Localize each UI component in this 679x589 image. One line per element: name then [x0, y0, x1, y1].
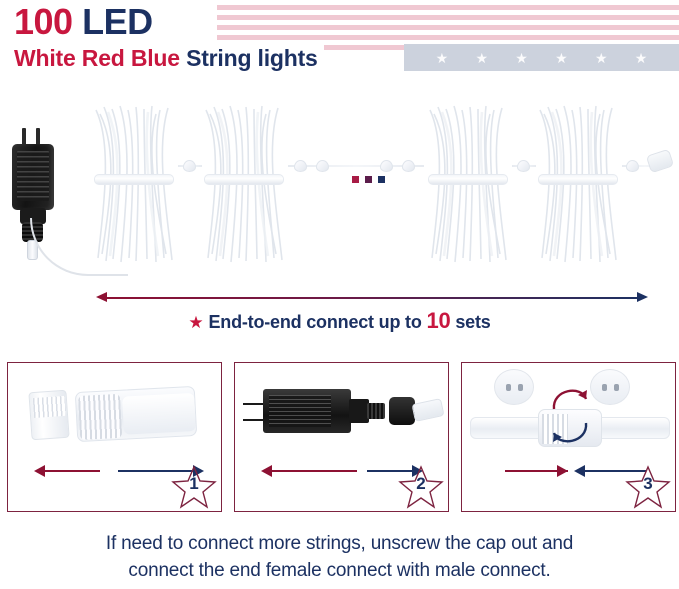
page-title-secondary: White Red Blue String lights	[14, 44, 324, 72]
light-string-bundle	[86, 104, 182, 264]
female-socket-icon	[494, 369, 534, 405]
arrow-head-right-icon	[637, 292, 648, 302]
star-icon: ★	[188, 313, 203, 332]
step-number: 3	[625, 474, 671, 494]
bulb-icon	[626, 160, 639, 172]
range-caption-text-before: End-to-end connect up to	[208, 312, 421, 332]
page-title-primary: 100 LED	[14, 2, 159, 42]
female-connector-icon	[411, 398, 444, 422]
light-string-bundle	[196, 104, 292, 264]
connector-wire-run	[288, 160, 424, 172]
light-string-bundle	[420, 104, 516, 264]
connector-threads	[78, 394, 122, 440]
light-string-bundle	[530, 104, 626, 264]
footer-instructions: If need to connect more strings, unscrew…	[0, 530, 679, 584]
footer-line-1: If need to connect more strings, unscrew…	[0, 530, 679, 557]
male-connector-icon	[75, 386, 197, 442]
arrow-shaft	[104, 297, 640, 299]
star-icon: ★	[436, 51, 449, 65]
max-sets-count: 10	[426, 308, 450, 333]
stripe	[217, 15, 679, 20]
stripe	[217, 35, 679, 40]
star-icon: ★	[555, 51, 568, 65]
step-3-illustration	[462, 363, 675, 467]
range-caption-text-after: sets	[455, 312, 490, 332]
header-banner: ★ ★ ★ ★ ★ ★ 100 LED White Red Blue Strin…	[0, 0, 679, 88]
footer-line-2: connect the end female connect with male…	[0, 557, 679, 584]
connector-wire-run	[512, 160, 536, 172]
continuation-ellipsis	[352, 176, 386, 185]
arrow-right-icon	[496, 465, 568, 477]
star-icon: ★	[475, 51, 488, 65]
rotation-arrows-icon	[540, 379, 600, 451]
bulb-icon	[380, 160, 393, 172]
flag-star-bar-decoration: ★ ★ ★ ★ ★ ★	[404, 44, 679, 71]
connector-body	[122, 393, 196, 435]
step-2-illustration	[235, 363, 448, 467]
end-connector-cap	[646, 149, 674, 174]
ellipsis-dot	[365, 176, 372, 183]
led-count: 100	[14, 1, 73, 42]
bundle-tie	[428, 174, 508, 185]
ellipsis-dot	[352, 176, 359, 183]
step-panel-3: 3	[461, 362, 676, 512]
screw-cap-icon	[389, 397, 415, 425]
end-to-end-range-arrow	[96, 292, 648, 304]
star-icon: ★	[635, 51, 648, 65]
adapter-label	[17, 151, 49, 201]
stripe	[217, 5, 679, 10]
step-number: 2	[398, 474, 444, 494]
product-type: LED	[82, 1, 153, 42]
bulb-icon	[294, 160, 307, 172]
adapter-body	[12, 144, 54, 210]
adapter-threads	[367, 403, 385, 419]
step-panel-2: 2	[234, 362, 449, 512]
stripe	[217, 25, 679, 30]
arrow-left-icon	[34, 465, 100, 477]
step-badge: 1	[171, 465, 217, 509]
product-category: String lights	[186, 45, 318, 71]
bulb-icon	[183, 160, 196, 172]
step-panel-1: 1	[7, 362, 222, 512]
bulb-icon	[517, 160, 530, 172]
bundle-tie	[94, 174, 174, 185]
step-badge: 2	[398, 465, 444, 509]
connector-wire-run	[178, 160, 202, 172]
step-1-illustration	[8, 363, 221, 467]
range-caption: ★End-to-end connect up to 10 sets	[0, 308, 679, 334]
bulb-icon	[316, 160, 329, 172]
adapter-label	[269, 395, 331, 427]
flag-stripes-decoration	[217, 2, 679, 50]
ellipsis-dot	[378, 176, 385, 183]
bundle-tie	[538, 174, 618, 185]
star-icon: ★	[595, 51, 608, 65]
step-badge: 3	[625, 465, 671, 509]
bulb-icon	[402, 160, 415, 172]
arrow-left-icon	[261, 465, 357, 477]
step-number: 1	[171, 474, 217, 494]
bundle-tie	[204, 174, 284, 185]
adapter-body	[263, 389, 351, 433]
adapter-neck	[349, 399, 369, 423]
screw-cap-icon	[28, 390, 69, 441]
color-options: White Red Blue	[14, 45, 180, 71]
star-icon: ★	[515, 51, 528, 65]
